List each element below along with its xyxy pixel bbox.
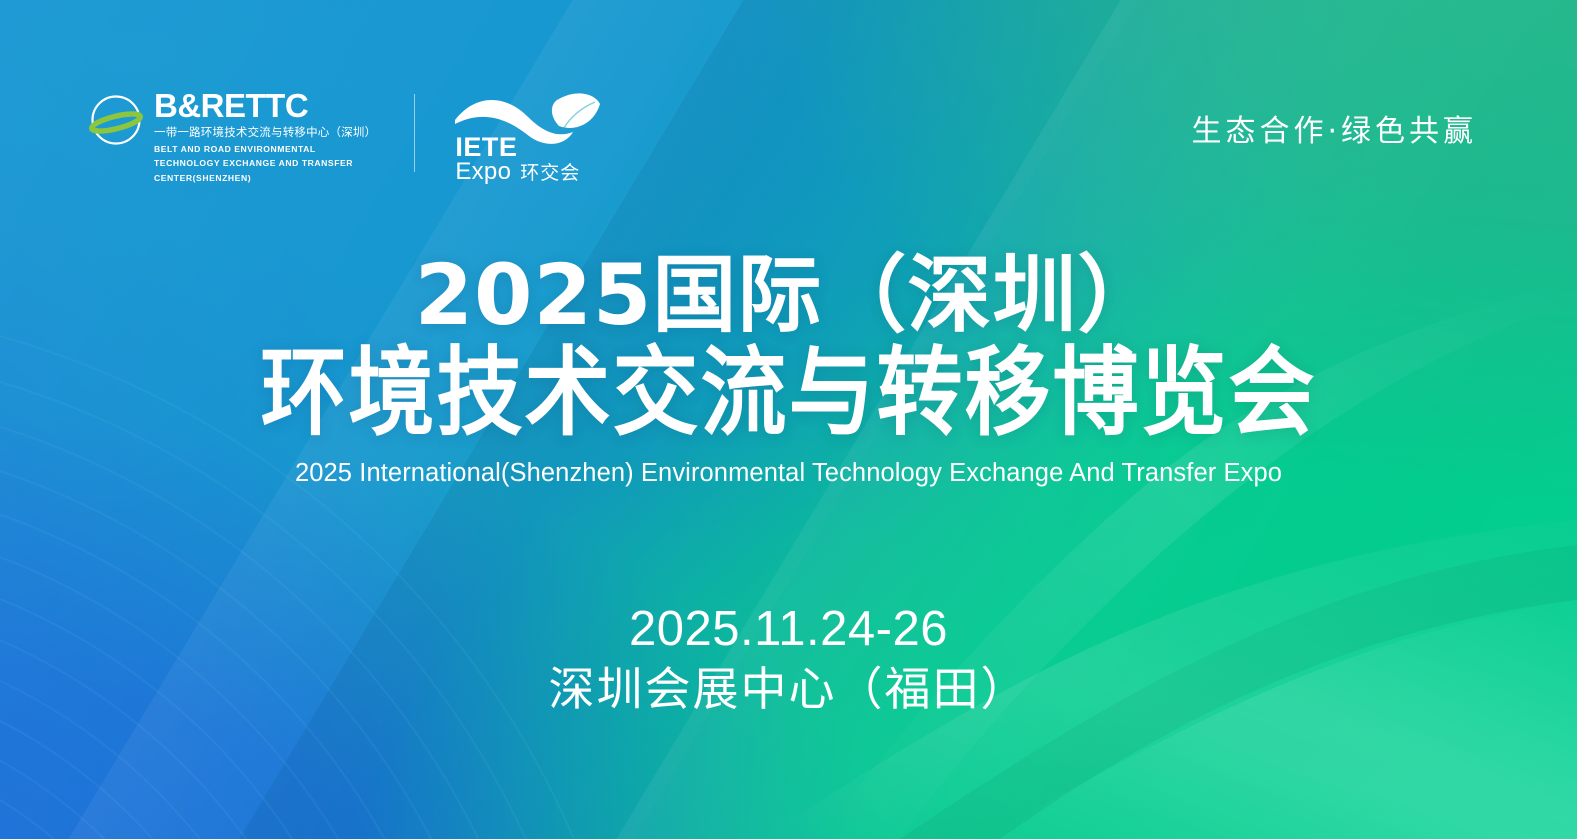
event-info-block: 2025.11.24-26 深圳会展中心（福田） xyxy=(0,601,1577,717)
event-date: 2025.11.24-26 xyxy=(0,601,1577,659)
title-line-2: 环境技术交流与转移博览会 xyxy=(0,343,1577,445)
brettc-english-line-2: TECHNOLOGY EXCHANGE AND TRANSFER xyxy=(154,157,376,169)
event-venue: 深圳会展中心（福田） xyxy=(0,661,1577,717)
banner-tagline: 生态合作·绿色共赢 xyxy=(1191,106,1477,150)
brettc-text-block: B&RETTC 一带一路环境技术交流与转移中心（深圳） BELT AND ROA… xyxy=(154,88,376,184)
iete-subtitle-row: Expo 环交会 xyxy=(455,160,580,184)
brettc-logo: B&RETTC 一带一路环境技术交流与转移中心（深圳） BELT AND ROA… xyxy=(88,88,376,184)
iete-wordmark: IETE xyxy=(455,134,517,161)
brettc-english-line-1: BELT AND ROAD ENVIRONMENTAL xyxy=(154,143,376,155)
logo-group: B&RETTC 一带一路环境技术交流与转移中心（深圳） BELT AND ROA… xyxy=(88,88,603,188)
brettc-chinese-name: 一带一路环境技术交流与转移中心（深圳） xyxy=(154,125,376,141)
brettc-english-line-3: CENTER(SHENZHEN) xyxy=(154,172,376,184)
iete-expo-label: Expo xyxy=(455,160,511,184)
event-banner: B&RETTC 一带一路环境技术交流与转移中心（深圳） BELT AND ROA… xyxy=(0,0,1577,839)
main-title-block: 2025国际（深圳） 环境技术交流与转移博览会 2025 Internation… xyxy=(0,252,1577,488)
title-line-1: 2025国际（深圳） xyxy=(0,252,1577,339)
brettc-wordmark: B&RETTC xyxy=(154,90,376,122)
iete-chinese-label: 环交会 xyxy=(520,164,580,183)
subtitle-english: 2025 International(Shenzhen) Environment… xyxy=(0,459,1577,488)
banner-header: B&RETTC 一带一路环境技术交流与转移中心（深圳） BELT AND ROA… xyxy=(0,0,1577,210)
logo-divider xyxy=(414,94,415,172)
iete-expo-logo: IETE Expo 环交会 xyxy=(453,90,603,188)
globe-ring-icon xyxy=(88,92,144,148)
